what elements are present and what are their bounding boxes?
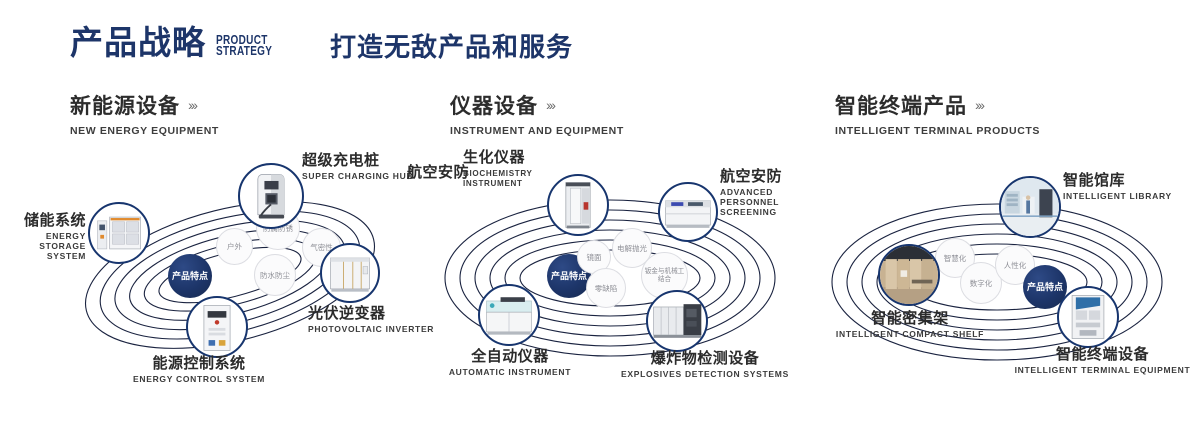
- page-title-en-line2: STRATEGY: [216, 46, 272, 57]
- label-energy-control-system: 能源控制系统 ENERGY CONTROL SYSTEM: [84, 355, 314, 384]
- node-super-charging-hub[interactable]: [238, 163, 304, 229]
- label-energy-storage-system: 储能系统 ENERGY STORAGE SYSTEM: [10, 212, 86, 261]
- kiosk-terminal-icon: [1059, 288, 1117, 346]
- screening-machine-icon: [660, 184, 716, 240]
- section-heading-new-energy: 新能源设备››› NEW ENERGY EQUIPMENT: [70, 96, 219, 137]
- core-bubble: 产品特点: [168, 254, 212, 298]
- node-automatic-instrument[interactable]: [478, 284, 540, 346]
- charging-pile-icon: [240, 165, 302, 227]
- section-heading-terminal: 智能终端产品››› INTELLIGENT TERMINAL PRODUCTS: [835, 96, 1040, 137]
- label-biochemistry-instrument: 生化仪器 BIOCHEMISTRY INSTRUMENT: [463, 149, 583, 188]
- node-intelligent-terminal-equipment[interactable]: [1057, 286, 1119, 348]
- node-intelligent-library[interactable]: [999, 176, 1061, 238]
- automatic-analyzer-icon: [480, 286, 538, 344]
- chevron-right-icons: ›››: [188, 97, 196, 113]
- chevron-right-icons: ›››: [975, 97, 983, 113]
- label-intelligent-terminal-equipment: 智能终端设备 INTELLIGENT TERMINAL EQUIPMENT: [1005, 346, 1200, 375]
- cluster-instrument-and-equipment: 产品特点 镜面 电解抛光 零缺陷 钣金与机械工结合 航空安防 生化仪器 BIOC…: [415, 150, 805, 415]
- node-photovoltaic-inverter[interactable]: [320, 243, 380, 303]
- node-intelligent-compact-shelf[interactable]: [878, 244, 940, 306]
- explosives-detector-icon: [648, 292, 706, 350]
- section-heading-instrument: 仪器设备››› INSTRUMENT AND EQUIPMENT: [450, 96, 624, 137]
- page-subtitle: 打造无敌产品和服务: [330, 34, 573, 60]
- inverter-cabinet-icon: [322, 245, 378, 301]
- page-title: 产品战略: [70, 26, 206, 59]
- energy-storage-cabinet-icon: [90, 204, 148, 262]
- feature-bubble: 防水防尘: [254, 254, 296, 296]
- cluster-new-energy-equipment: 产品特点 户外 防腐防锈 防水防尘 气密性 储能系统 ENERGY STORAG…: [40, 150, 420, 415]
- node-energy-control-system[interactable]: [186, 296, 248, 358]
- page-header: 产品战略 PRODUCT STRATEGY: [70, 26, 286, 59]
- label-explosives-detection-systems: 爆炸物检测设备 EXPLOSIVES DETECTION SYSTEMS: [605, 350, 805, 379]
- chevron-right-icons: ›››: [546, 97, 554, 113]
- compact-shelving-icon: [880, 246, 938, 304]
- section-title-en: INTELLIGENT TERMINAL PRODUCTS: [835, 125, 1040, 137]
- library-interior-icon: [1001, 178, 1059, 236]
- feature-bubble: 零缺陷: [586, 268, 626, 308]
- section-title-cn: 仪器设备: [450, 96, 538, 117]
- section-title-en: NEW ENERGY EQUIPMENT: [70, 125, 219, 137]
- node-explosives-detection-systems[interactable]: [646, 290, 708, 352]
- section-title-cn: 新能源设备: [70, 96, 180, 117]
- cluster-intelligent-terminal-products: 智慧化 数字化 人性化 产品特点 智能馆库 INTELLIGENT LIBRAR…: [805, 150, 1200, 415]
- product-strategy-infographic: 产品战略 PRODUCT STRATEGY 打造无敌产品和服务 新能源设备›››…: [0, 0, 1200, 422]
- label-intelligent-compact-shelf: 智能密集架 INTELLIGENT COMPACT SHELF: [825, 310, 995, 339]
- section-title-cn: 智能终端产品: [835, 96, 967, 117]
- section-title-en: INSTRUMENT AND EQUIPMENT: [450, 125, 624, 137]
- label-automatic-instrument: 全自动仪器 AUTOMATIC INSTRUMENT: [410, 348, 610, 377]
- control-cabinet-icon: [188, 298, 246, 356]
- node-energy-storage-system[interactable]: [88, 202, 150, 264]
- feature-bubble: 户外: [216, 228, 253, 265]
- node-advanced-personnel-screening[interactable]: [658, 182, 718, 242]
- page-title-en: PRODUCT STRATEGY: [216, 35, 272, 57]
- label-intelligent-library: 智能馆库 INTELLIGENT LIBRARY: [1063, 172, 1193, 201]
